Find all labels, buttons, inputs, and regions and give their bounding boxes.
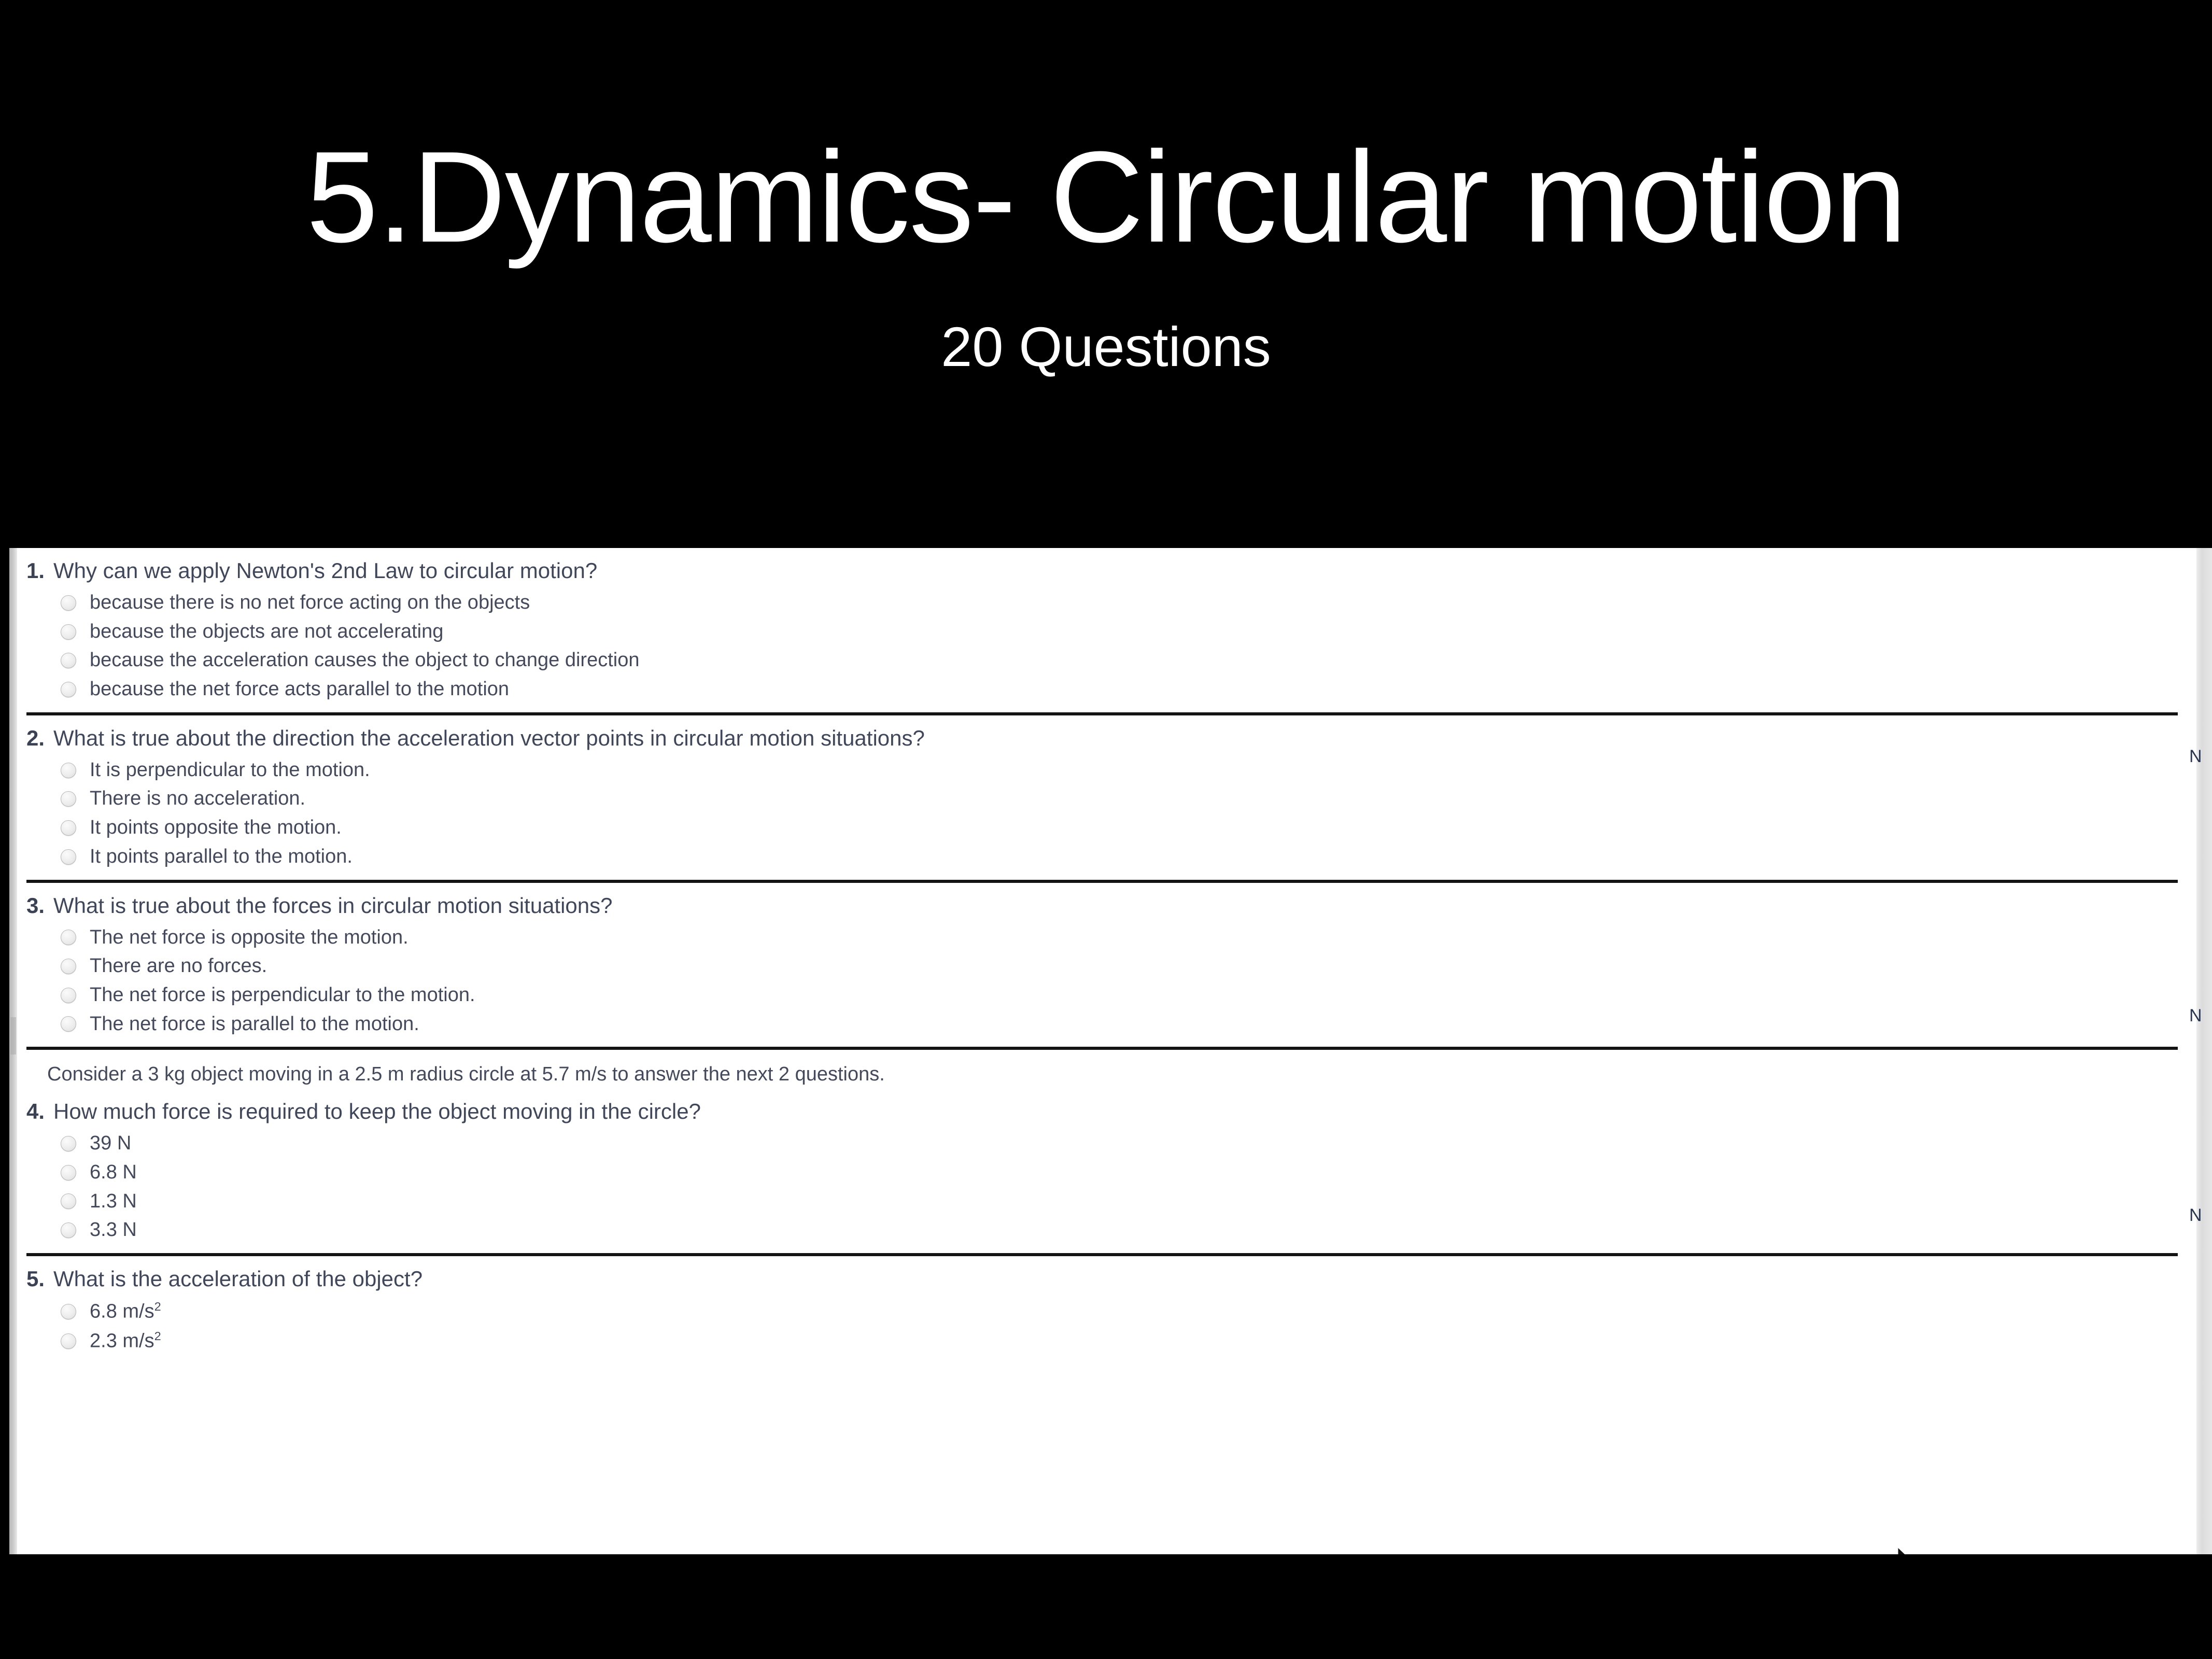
option-label: 6.8 N <box>90 1161 137 1184</box>
page-title: 5.Dynamics- Circular motion <box>0 132 2212 262</box>
right-scrollbar-rail[interactable] <box>2196 548 2212 1554</box>
radio-button-icon[interactable] <box>61 930 76 945</box>
option-row[interactable]: 2.3 m/s2 <box>17 1326 2196 1356</box>
radio-button-icon[interactable] <box>61 682 76 697</box>
question-block-3: 3. What is true about the forces in circ… <box>17 883 2196 1047</box>
option-row[interactable]: The net force is opposite the motion. <box>17 923 2196 952</box>
left-scrollbar-rail[interactable] <box>9 548 17 1554</box>
option-list: because there is no net force acting on … <box>17 586 2196 712</box>
option-row[interactable]: because the net force acts parallel to t… <box>17 675 2196 704</box>
option-label: The net force is opposite the motion. <box>90 926 408 949</box>
option-label: 39 N <box>90 1132 131 1155</box>
option-row[interactable]: It points opposite the motion. <box>17 813 2196 842</box>
page-subtitle: 20 Questions <box>0 319 2212 375</box>
question-text: How much force is required to keep the o… <box>53 1099 701 1124</box>
option-label-base: 6.8 m/s <box>90 1301 154 1323</box>
option-label-base: 2.3 m/s <box>90 1330 154 1352</box>
left-scrollbar-thumb[interactable] <box>10 1017 16 1055</box>
radio-button-icon[interactable] <box>61 1165 76 1180</box>
quiz-question-list: 1. Why can we apply Newton's 2nd Law to … <box>17 548 2196 1554</box>
question-number: 5. <box>26 1267 50 1291</box>
radio-button-icon[interactable] <box>61 624 76 640</box>
option-label: It points opposite the motion. <box>90 817 342 839</box>
option-row[interactable]: 1.3 N <box>17 1187 2196 1216</box>
option-label: There are no forces. <box>90 955 267 978</box>
question-number: 1. <box>26 558 50 583</box>
option-row[interactable]: 6.8 N <box>17 1158 2196 1187</box>
question-number: 4. <box>26 1099 50 1124</box>
radio-button-icon[interactable] <box>61 1304 76 1319</box>
radio-button-icon[interactable] <box>61 595 76 611</box>
option-row[interactable]: because there is no net force acting on … <box>17 588 2196 617</box>
option-label: 3.3 N <box>90 1219 137 1242</box>
question-text: What is true about the direction the acc… <box>53 726 925 751</box>
option-row[interactable]: 39 N <box>17 1129 2196 1158</box>
radio-button-icon[interactable] <box>61 1016 76 1032</box>
option-label: because there is no net force acting on … <box>90 592 530 614</box>
radio-button-icon[interactable] <box>61 1222 76 1238</box>
option-label: because the net force acts parallel to t… <box>90 678 509 701</box>
option-label: It is perpendicular to the motion. <box>90 759 370 782</box>
radio-button-icon[interactable] <box>61 1333 76 1349</box>
passage-text: Consider a 3 kg object moving in a 2.5 m… <box>17 1050 2196 1089</box>
option-row[interactable]: 6.8 m/s2 <box>17 1297 2196 1326</box>
option-label: The net force is perpendicular to the mo… <box>90 984 475 1007</box>
option-label-exponent: 2 <box>154 1300 161 1313</box>
radio-button-icon[interactable] <box>61 1136 76 1151</box>
option-label: 2.3 m/s2 <box>90 1329 161 1353</box>
option-row[interactable]: because the acceleration causes the obje… <box>17 646 2196 675</box>
question-block-4: 4. How much force is required to keep th… <box>17 1089 2196 1253</box>
question-heading: 3. What is true about the forces in circ… <box>17 883 2196 921</box>
quiz-document: N N N 1. Why can we apply Newton's 2nd L… <box>9 548 2212 1554</box>
option-list: 6.8 m/s2 2.3 m/s2 <box>17 1295 2196 1365</box>
option-row[interactable]: because the objects are not accelerating <box>17 617 2196 646</box>
radio-button-icon[interactable] <box>61 763 76 778</box>
question-block-1: 1. Why can we apply Newton's 2nd Law to … <box>17 548 2196 712</box>
question-heading: 4. How much force is required to keep th… <box>17 1089 2196 1127</box>
option-row[interactable]: There are no forces. <box>17 952 2196 981</box>
question-block-5: 5. What is the acceleration of the objec… <box>17 1256 2196 1365</box>
radio-button-icon[interactable] <box>61 653 76 668</box>
option-label: It points parallel to the motion. <box>90 846 353 868</box>
option-list: The net force is opposite the motion. Th… <box>17 921 2196 1047</box>
option-row[interactable]: There is no acceleration. <box>17 784 2196 813</box>
question-heading: 2. What is true about the direction the … <box>17 715 2196 754</box>
question-text: Why can we apply Newton's 2nd Law to cir… <box>53 558 597 583</box>
radio-button-icon[interactable] <box>61 791 76 807</box>
slide-title-area: 5.Dynamics- Circular motion 20 Questions <box>0 0 2212 548</box>
option-label: There is no acceleration. <box>90 788 305 810</box>
question-text: What is true about the forces in circula… <box>53 893 613 918</box>
option-label-exponent: 2 <box>154 1329 161 1343</box>
option-list: It is perpendicular to the motion. There… <box>17 754 2196 880</box>
radio-button-icon[interactable] <box>61 988 76 1003</box>
question-number: 2. <box>26 726 50 751</box>
option-label: because the acceleration causes the obje… <box>90 649 639 672</box>
radio-button-icon[interactable] <box>61 1193 76 1209</box>
radio-button-icon[interactable] <box>61 820 76 836</box>
question-number: 3. <box>26 893 50 918</box>
question-block-2: 2. What is true about the direction the … <box>17 715 2196 880</box>
option-row[interactable]: It points parallel to the motion. <box>17 842 2196 871</box>
option-row[interactable]: It is perpendicular to the motion. <box>17 756 2196 785</box>
question-heading: 1. Why can we apply Newton's 2nd Law to … <box>17 548 2196 586</box>
option-row[interactable]: The net force is parallel to the motion. <box>17 1010 2196 1039</box>
radio-button-icon[interactable] <box>61 959 76 974</box>
option-row[interactable]: 3.3 N <box>17 1216 2196 1245</box>
question-text: What is the acceleration of the object? <box>53 1267 422 1291</box>
option-row[interactable]: The net force is perpendicular to the mo… <box>17 981 2196 1010</box>
option-label: 6.8 m/s2 <box>90 1300 161 1323</box>
radio-button-icon[interactable] <box>61 849 76 865</box>
option-label: The net force is parallel to the motion. <box>90 1013 419 1036</box>
question-heading: 5. What is the acceleration of the objec… <box>17 1256 2196 1295</box>
option-label: 1.3 N <box>90 1190 137 1213</box>
option-label: because the objects are not accelerating <box>90 621 443 643</box>
option-list: 39 N 6.8 N 1.3 N 3.3 N <box>17 1127 2196 1253</box>
